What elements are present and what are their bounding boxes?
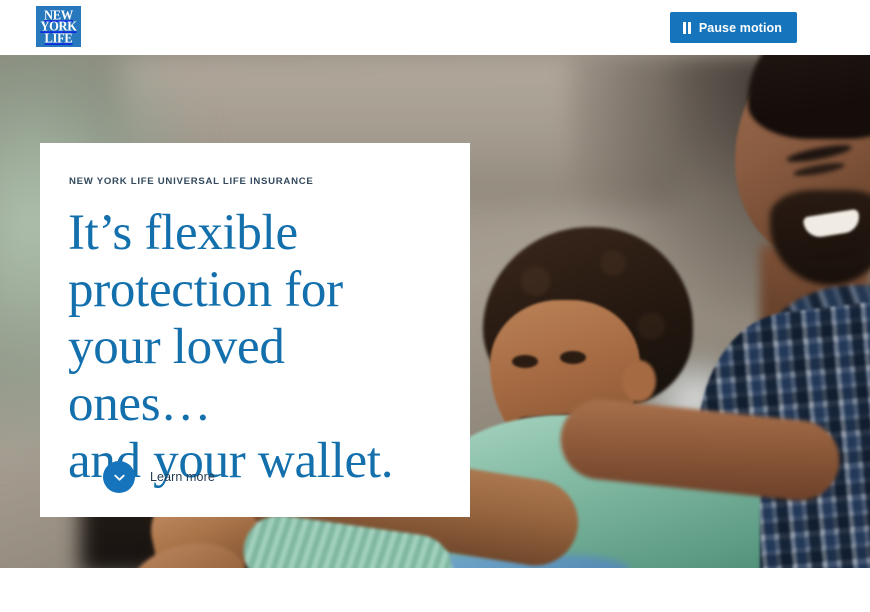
headline-line-3: your loved ones… xyxy=(68,319,430,433)
photo-father-hair xyxy=(748,55,870,139)
headline-line-1: It’s flexible xyxy=(68,205,430,262)
page-root: NEW YORK LIFE Pause motion xyxy=(0,0,870,612)
new-york-life-logo[interactable]: NEW YORK LIFE xyxy=(36,6,81,47)
hero-content-card: NEW YORK LIFE UNIVERSAL LIFE INSURANCE I… xyxy=(40,143,470,517)
headline-line-2: protection for xyxy=(68,262,430,319)
chevron-down-icon[interactable] xyxy=(103,461,135,493)
learn-more-label: Learn more xyxy=(150,470,215,484)
pause-motion-button[interactable]: Pause motion xyxy=(670,12,797,43)
pause-icon xyxy=(683,22,691,34)
learn-more-link[interactable]: Learn more xyxy=(103,461,215,493)
below-fold-area xyxy=(0,568,870,612)
site-header: NEW YORK LIFE Pause motion xyxy=(0,0,870,55)
pause-motion-label: Pause motion xyxy=(699,21,782,35)
hero-section: NEW YORK LIFE UNIVERSAL LIFE INSURANCE I… xyxy=(0,55,870,568)
photo-boy-ear xyxy=(622,360,656,402)
photo-boy-left-eye xyxy=(512,355,538,368)
logo-line-3: LIFE xyxy=(45,32,73,45)
hero-headline: It’s flexible protection for your loved … xyxy=(68,205,430,490)
hero-eyebrow: NEW YORK LIFE UNIVERSAL LIFE INSURANCE xyxy=(69,176,430,187)
photo-boy-right-eye xyxy=(560,351,586,364)
